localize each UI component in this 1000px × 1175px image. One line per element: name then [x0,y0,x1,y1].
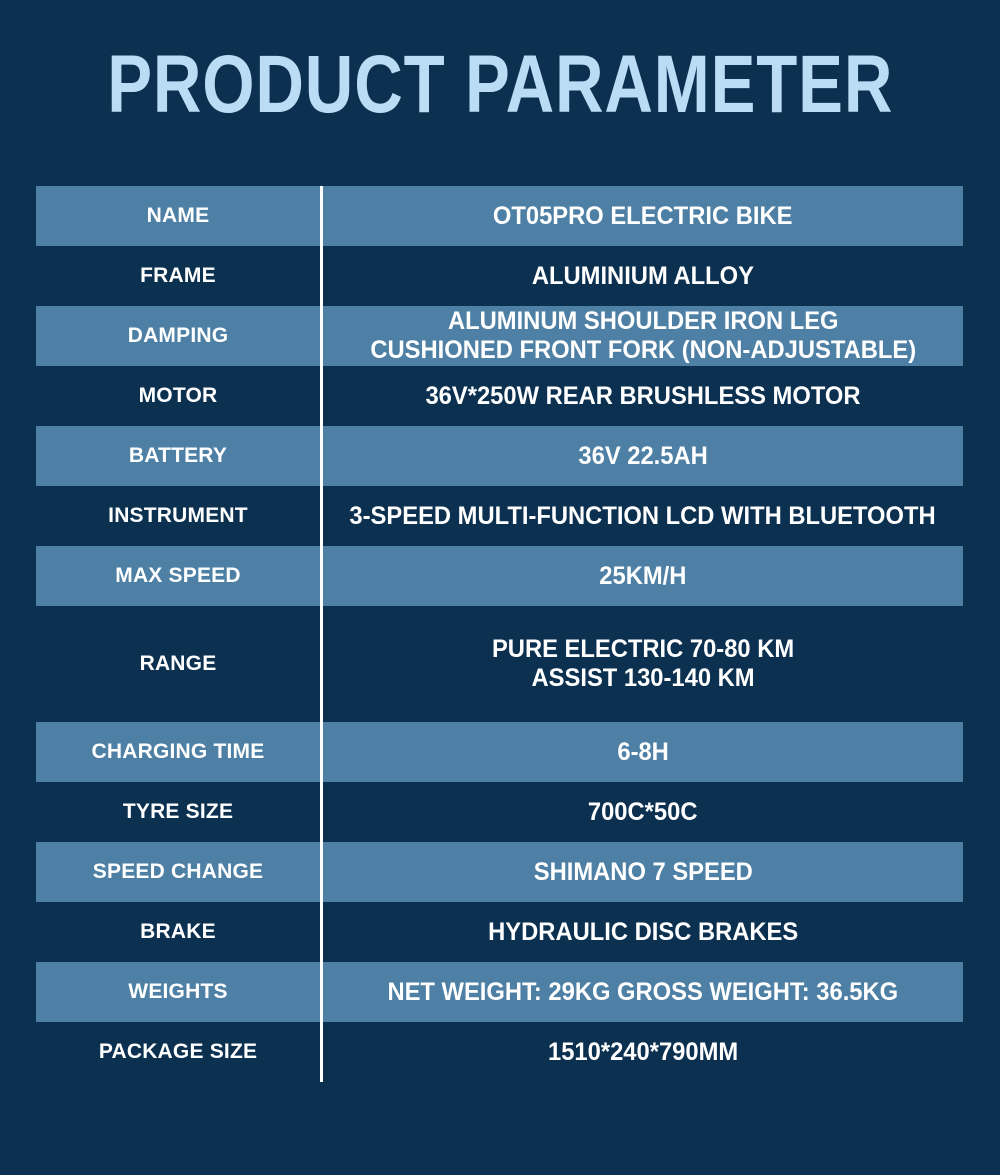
row-label: INSTRUMENT [36,486,320,546]
table-row: MOTOR 36V*250W REAR BRUSHLESS MOTOR [36,366,963,426]
row-value-cell: 25KM/H [323,546,963,606]
row-value: 1510*240*790MM [548,1037,738,1067]
row-label: WEIGHTS [36,962,320,1022]
table-row: MAX SPEED 25KM/H [36,546,963,606]
row-label: BATTERY [36,426,320,486]
row-value-cell: 1510*240*790MM [323,1022,963,1082]
product-parameter-table: NAME OT05PRO ELECTRIC BIKE FRAME ALUMINI… [36,186,963,1082]
table-row: BRAKE HYDRAULIC DISC BRAKES [36,902,963,962]
table-row: RANGE PURE ELECTRIC 70-80 KM ASSIST 130-… [36,606,963,722]
row-value: ALUMINIUM ALLOY [532,261,754,291]
row-value-cell: 3-SPEED MULTI-FUNCTION LCD WITH BLUETOOT… [323,486,963,546]
table-row: PACKAGE SIZE 1510*240*790MM [36,1022,963,1082]
row-value-cell: 6-8H [323,722,963,782]
row-value: NET WEIGHT: 29KG GROSS WEIGHT: 36.5KG [388,977,899,1007]
row-label: CHARGING TIME [36,722,320,782]
row-value-cell: OT05PRO ELECTRIC BIKE [323,186,963,246]
row-value: 3-SPEED MULTI-FUNCTION LCD WITH BLUETOOT… [350,501,936,531]
table-row: TYRE SIZE 700C*50C [36,782,963,842]
row-value-cell: PURE ELECTRIC 70-80 KM ASSIST 130-140 KM [323,606,963,722]
row-value: SHIMANO 7 SPEED [533,857,752,887]
row-value: 36V 22.5AH [578,441,707,471]
row-value: ALUMINUM SHOULDER IRON LEG CUSHIONED FRO… [370,307,916,365]
page-title: PRODUCT PARAMETER [107,44,893,126]
row-value-cell: SHIMANO 7 SPEED [323,842,963,902]
row-value-cell: 700C*50C [323,782,963,842]
row-label: DAMPING [36,306,320,366]
row-value-cell: 36V*250W REAR BRUSHLESS MOTOR [323,366,963,426]
row-value-cell: HYDRAULIC DISC BRAKES [323,902,963,962]
table-row: WEIGHTS NET WEIGHT: 29KG GROSS WEIGHT: 3… [36,962,963,1022]
row-value: 700C*50C [588,797,698,827]
table-row: NAME OT05PRO ELECTRIC BIKE [36,186,963,246]
row-label: NAME [36,186,320,246]
table-row: SPEED CHANGE SHIMANO 7 SPEED [36,842,963,902]
row-value-cell: ALUMINUM SHOULDER IRON LEG CUSHIONED FRO… [323,306,963,366]
row-value: 36V*250W REAR BRUSHLESS MOTOR [425,381,860,411]
row-label: RANGE [36,606,320,722]
row-label: MOTOR [36,366,320,426]
row-label: TYRE SIZE [36,782,320,842]
table-row: BATTERY 36V 22.5AH [36,426,963,486]
row-value-cell: ALUMINIUM ALLOY [323,246,963,306]
table-row: INSTRUMENT 3-SPEED MULTI-FUNCTION LCD WI… [36,486,963,546]
row-value: 6-8H [617,737,668,767]
row-label: SPEED CHANGE [36,842,320,902]
row-value-cell: 36V 22.5AH [323,426,963,486]
table-row: CHARGING TIME 6-8H [36,722,963,782]
row-label: PACKAGE SIZE [36,1022,320,1082]
row-value: HYDRAULIC DISC BRAKES [488,917,798,947]
table-row: DAMPING ALUMINUM SHOULDER IRON LEG CUSHI… [36,306,963,366]
row-value: PURE ELECTRIC 70-80 KM ASSIST 130-140 KM [492,635,794,693]
row-label: MAX SPEED [36,546,320,606]
row-value: 25KM/H [599,561,686,591]
row-label: BRAKE [36,902,320,962]
row-value-cell: NET WEIGHT: 29KG GROSS WEIGHT: 36.5KG [323,962,963,1022]
row-label: FRAME [36,246,320,306]
page-title-container: PRODUCT PARAMETER [0,44,1000,126]
table-row: FRAME ALUMINIUM ALLOY [36,246,963,306]
row-value: OT05PRO ELECTRIC BIKE [493,201,793,231]
